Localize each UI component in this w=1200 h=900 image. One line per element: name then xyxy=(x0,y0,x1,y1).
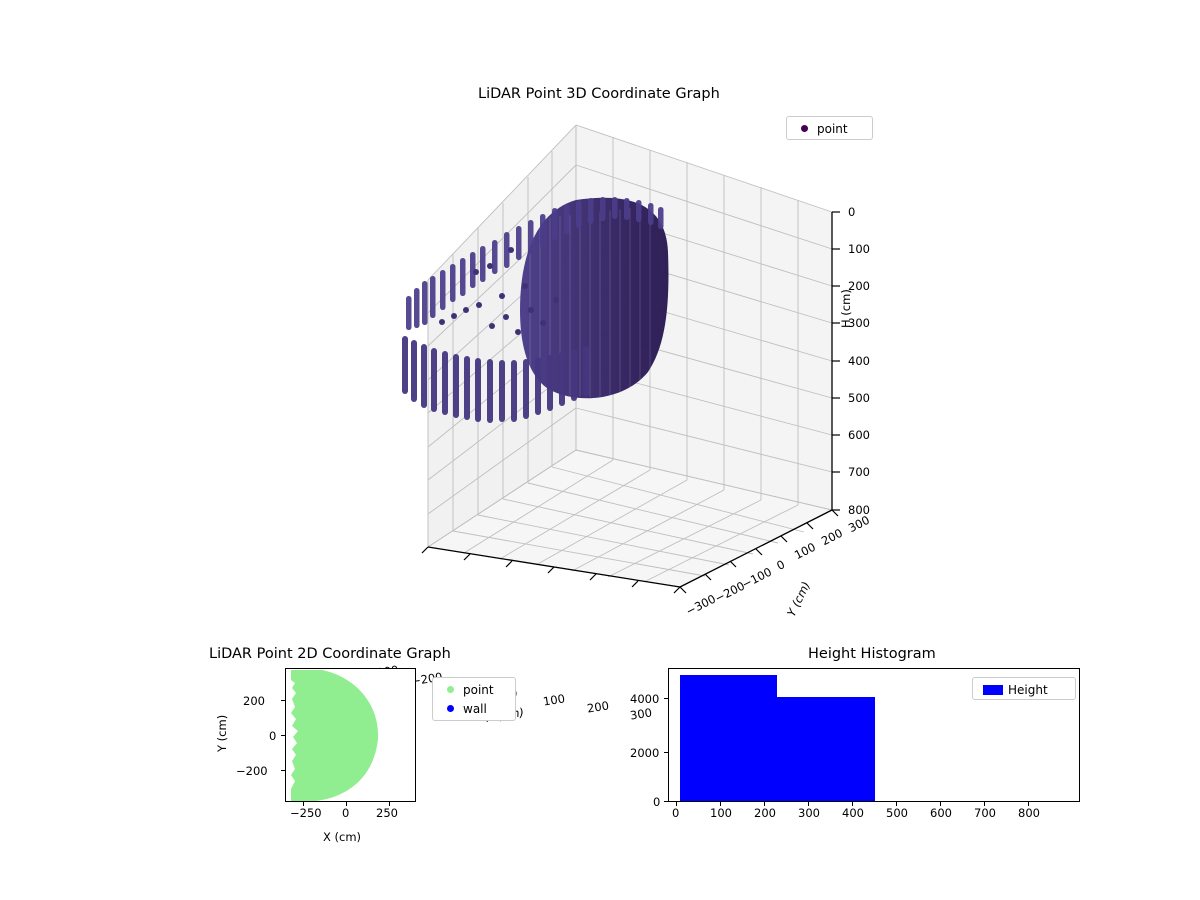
legend-item-point[interactable]: point xyxy=(437,680,511,699)
scatter2d-ytick-0: −200 xyxy=(236,764,268,778)
wall-marker-icon xyxy=(437,705,463,712)
histogram-xtick-8: 800 xyxy=(1018,806,1040,820)
histogram-ytick-2: 4000 xyxy=(630,692,659,706)
legend-item-wall[interactable]: wall xyxy=(437,699,511,718)
legend-label-point: point xyxy=(817,122,848,136)
scatter3d-xtick-5: 200 xyxy=(586,698,610,715)
scatter2d-ytickmark-0 xyxy=(281,770,285,771)
point-marker-icon xyxy=(437,686,463,693)
legend-item-point[interactable]: point xyxy=(791,119,868,138)
histogram-ytickmark-0 xyxy=(664,801,668,802)
histogram-xtickmark-5 xyxy=(896,802,897,806)
scatter3d-legend[interactable]: point xyxy=(786,116,873,140)
histogram-ytick-1: 2000 xyxy=(630,746,659,760)
scatter2d-ytick-1: 0 xyxy=(269,729,276,743)
scatter3d-canvas xyxy=(380,100,880,600)
histogram-ytickmark-1 xyxy=(664,752,668,753)
histogram-xtickmark-3 xyxy=(808,802,809,806)
histogram-xtick-0: 0 xyxy=(672,806,679,820)
height-patch-icon xyxy=(978,685,1008,695)
scatter2d-xtick-0: −250 xyxy=(290,806,322,820)
histogram-xtickmark-2 xyxy=(764,802,765,806)
scatter2d-xtick-2: 250 xyxy=(376,806,398,820)
histogram-xtickmark-0 xyxy=(676,802,677,806)
legend-label-wall: wall xyxy=(463,702,487,716)
scatter3d-zaxis-label: H (cm) xyxy=(839,289,853,328)
scatter2d-xtick-1: 0 xyxy=(342,806,349,820)
scatter2d-point-region xyxy=(291,670,378,801)
scatter3d-xtick-6: 300 xyxy=(629,705,653,722)
legend-label-point: point xyxy=(463,683,494,697)
legend-item-height[interactable]: Height xyxy=(978,680,1070,699)
scatter3d-xtick-4: 100 xyxy=(542,691,566,708)
histogram-xtick-7: 700 xyxy=(974,806,996,820)
scatter3d-ztick-1: 100 xyxy=(848,242,870,256)
scatter3d-ztick-5: 500 xyxy=(848,391,870,405)
histogram-xtick-2: 200 xyxy=(754,806,776,820)
histogram-xtick-1: 100 xyxy=(710,806,732,820)
histogram-ytickmark-2 xyxy=(664,698,668,699)
histogram-legend[interactable]: Height xyxy=(972,677,1076,700)
histogram-xtickmark-1 xyxy=(720,802,721,806)
scatter2d-xtickmark-1 xyxy=(346,802,347,806)
scatter2d-legend[interactable]: point wall xyxy=(432,677,516,721)
histogram-title: Height Histogram xyxy=(808,646,936,662)
histogram-bar-1[interactable] xyxy=(777,697,875,801)
scatter2d-ytickmark-2 xyxy=(281,700,285,701)
legend-label-height: Height xyxy=(1008,683,1048,697)
histogram-xtickmark-7 xyxy=(984,802,985,806)
scatter2d-xtickmark-0 xyxy=(303,802,304,806)
histogram-xtick-5: 500 xyxy=(886,806,908,820)
histogram-bar-0[interactable] xyxy=(680,675,777,801)
histogram-xtick-6: 600 xyxy=(930,806,952,820)
scatter3d-ztick-0: 0 xyxy=(848,205,855,219)
scatter3d-axes[interactable]: −300 −200 −100 0 100 200 300 X (cm) −300… xyxy=(380,100,880,600)
histogram-xtickmark-8 xyxy=(1028,802,1029,806)
histogram-xtick-3: 300 xyxy=(798,806,820,820)
scatter3d-ztick-7: 700 xyxy=(848,465,870,479)
figure-canvas: LiDAR Point 3D Coordinate Graph xyxy=(0,0,1200,900)
scatter3d-ztick-6: 600 xyxy=(848,428,870,442)
point-marker-icon xyxy=(791,125,817,132)
scatter2d-title: LiDAR Point 2D Coordinate Graph xyxy=(209,646,451,662)
histogram-xtickmark-4 xyxy=(852,802,853,806)
scatter3d-ztick-8: 800 xyxy=(848,503,870,517)
scatter2d-canvas xyxy=(286,669,416,802)
scatter2d-ytick-2: 200 xyxy=(243,694,265,708)
histogram-ytick-0: 0 xyxy=(653,795,660,809)
scatter3d-ztick-4: 400 xyxy=(848,354,870,368)
scatter2d-yaxis-label: Y (cm) xyxy=(215,715,229,752)
scatter2d-axes[interactable] xyxy=(285,668,416,802)
histogram-xtickmark-6 xyxy=(940,802,941,806)
histogram-xtick-4: 400 xyxy=(842,806,864,820)
scatter2d-xtickmark-2 xyxy=(389,802,390,806)
scatter2d-xaxis-label: X (cm) xyxy=(323,830,361,844)
scatter2d-ytickmark-1 xyxy=(281,735,285,736)
